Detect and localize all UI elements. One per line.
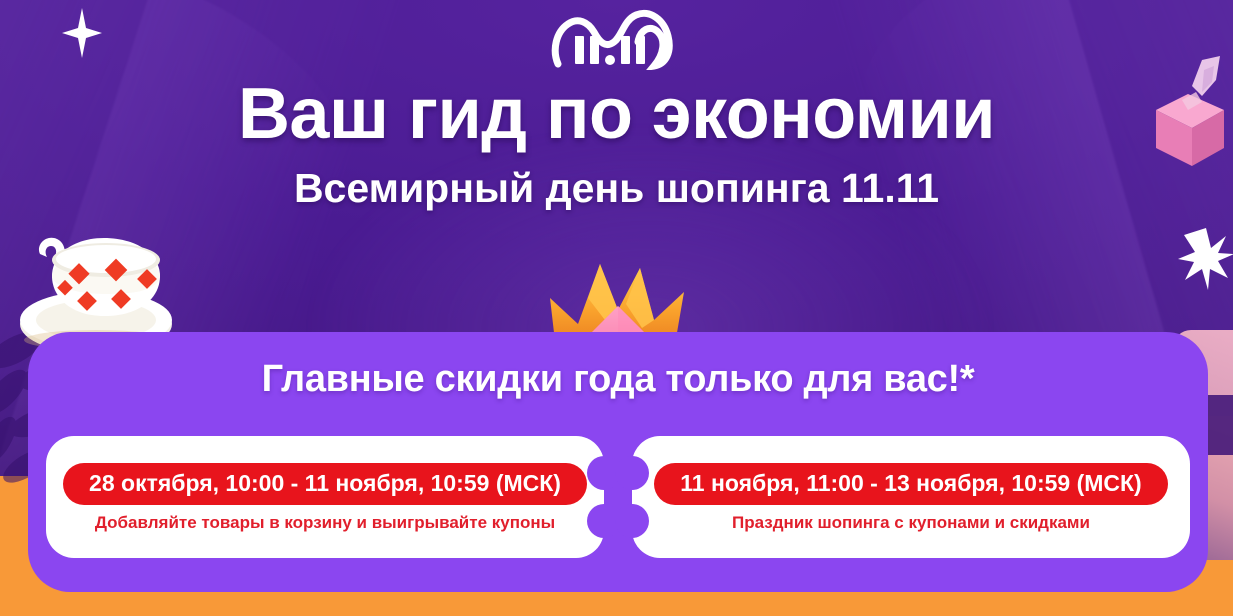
promo-banner: Ваш гид по экономии Всемирный день шопин…: [0, 0, 1233, 616]
promo-card: Главные скидки года только для вас!* 28 …: [28, 332, 1208, 592]
ticket-date-badge: 28 октября, 10:00 - 11 ноября, 10:59 (МС…: [63, 463, 587, 505]
gift-box-icon: [1142, 52, 1233, 172]
headline-block: Ваш гид по экономии Всемирный день шопин…: [0, 78, 1233, 209]
ticket-caption: Добавляйте товары в корзину и выигрывайт…: [95, 514, 555, 531]
promo-card-title: Главные скидки года только для вас!*: [28, 332, 1208, 401]
ticket-date-badge: 11 ноября, 11:00 - 13 ноября, 10:59 (МСК…: [654, 463, 1167, 505]
sparkle-eight-point-icon: [1178, 228, 1233, 290]
ticket-notch: [615, 504, 649, 538]
ticket-notch: [615, 456, 649, 490]
ticket-item[interactable]: 11 ноября, 11:00 - 13 ноября, 10:59 (МСК…: [632, 436, 1190, 558]
page-subtitle: Всемирный день шопинга 11.11: [0, 168, 1233, 209]
ticket-list: 28 октября, 10:00 - 11 ноября, 10:59 (МС…: [46, 436, 1190, 558]
11-11-logo: [0, 6, 1233, 70]
page-title: Ваш гид по экономии: [0, 78, 1233, 150]
ticket-caption: Праздник шопинга с купонами и скидками: [732, 514, 1090, 531]
11-11-logo-icon: [542, 6, 692, 70]
ticket-item[interactable]: 28 октября, 10:00 - 11 ноября, 10:59 (МС…: [46, 436, 604, 558]
